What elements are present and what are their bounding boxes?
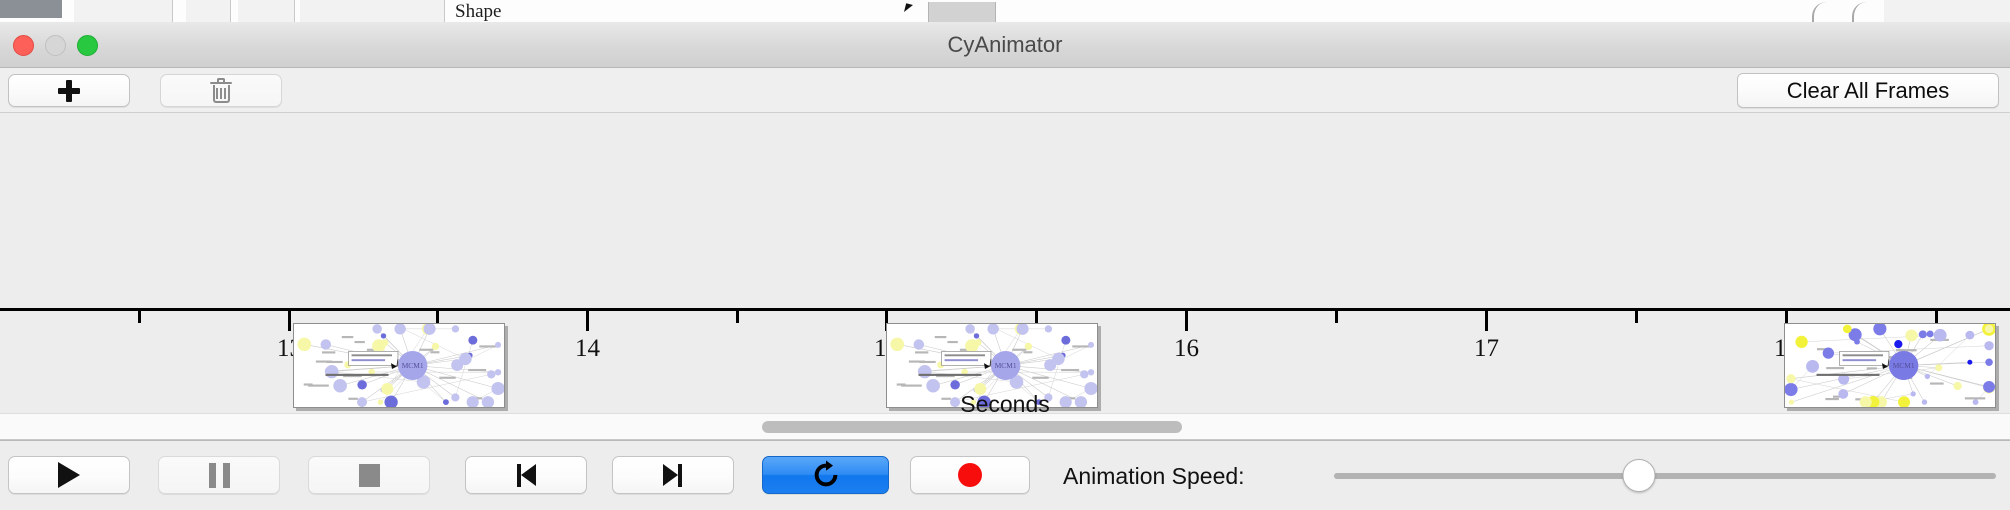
ruler-tick-major: [586, 311, 589, 331]
playback-bar: Animation Speed:: [0, 440, 2010, 510]
scrollbar-thumb[interactable]: [762, 421, 1182, 433]
animation-speed-label: Animation Speed:: [1063, 463, 1245, 490]
background-window-label: Shape: [455, 1, 501, 22]
background-tab: [186, 0, 231, 22]
pause-button[interactable]: [158, 456, 280, 494]
pause-icon: [209, 463, 230, 488]
horizontal-scrollbar[interactable]: [0, 413, 2010, 440]
cursor-arrow-icon: [904, 3, 913, 13]
plus-icon: [56, 78, 82, 104]
background-dark-block: [0, 0, 62, 18]
ruler-tick-minor: [436, 311, 439, 323]
background-tab: [1884, 0, 2010, 22]
svg-text:MCM1: MCM1: [402, 361, 424, 370]
skip-start-icon: [513, 462, 539, 488]
ruler-tick-minor: [138, 311, 141, 323]
background-tab: [74, 0, 173, 22]
ruler-tick-minor: [1935, 311, 1938, 323]
clear-all-frames-label: Clear All Frames: [1787, 78, 1950, 104]
ruler-tick-minor: [1335, 311, 1338, 323]
ruler-tick-major: [1485, 311, 1488, 331]
trash-icon: [210, 78, 232, 104]
timeline-panel[interactable]: 2131415161718 MCM1MCM1MCM1 Seconds: [0, 113, 2010, 413]
ruler-tick-minor: [736, 311, 739, 323]
ruler-tick-major: [288, 311, 291, 331]
background-arc: [1852, 2, 1876, 22]
loop-button[interactable]: [762, 456, 889, 494]
window-title: CyAnimator: [0, 22, 2010, 68]
record-button[interactable]: [910, 456, 1030, 494]
background-tab: [300, 0, 445, 22]
slider-thumb[interactable]: [1622, 459, 1655, 492]
animation-speed-slider[interactable]: [1334, 473, 1996, 479]
last-frame-button[interactable]: [612, 456, 734, 494]
record-icon: [958, 463, 982, 487]
stop-icon: [359, 464, 380, 487]
skip-end-icon: [660, 462, 686, 488]
add-frame-button[interactable]: [8, 74, 130, 107]
ruler-tick-label: 17: [1474, 335, 1499, 363]
toolbar: Clear All Frames: [0, 68, 2010, 113]
background-grey-box: [928, 2, 996, 22]
cyanimator-window: Shape CyAnimator: [0, 0, 2010, 510]
background-window-strip: Shape: [0, 0, 2010, 22]
axis-title: Seconds: [0, 391, 2010, 413]
svg-text:MCM1: MCM1: [995, 361, 1017, 370]
title-bar: CyAnimator: [0, 22, 2010, 68]
stop-button[interactable]: [308, 456, 430, 494]
clear-all-frames-button[interactable]: Clear All Frames: [1737, 73, 1999, 108]
delete-frame-button[interactable]: [160, 74, 282, 107]
ruler-tick-minor: [1035, 311, 1038, 323]
ruler-tick-minor: [1635, 311, 1638, 323]
ruler-tick-major: [1185, 311, 1188, 331]
first-frame-button[interactable]: [465, 456, 587, 494]
timeline-axis-line: [0, 308, 2010, 311]
ruler-tick-label: 16: [1174, 335, 1199, 363]
ruler-tick-label: 14: [575, 335, 600, 363]
play-button[interactable]: [8, 456, 130, 494]
svg-text:MCM1: MCM1: [1893, 361, 1915, 370]
background-arc: [1812, 2, 1836, 22]
background-tab: [238, 0, 295, 22]
loop-icon: [811, 460, 841, 490]
slider-track[interactable]: [1334, 473, 1996, 479]
play-icon: [58, 462, 80, 488]
